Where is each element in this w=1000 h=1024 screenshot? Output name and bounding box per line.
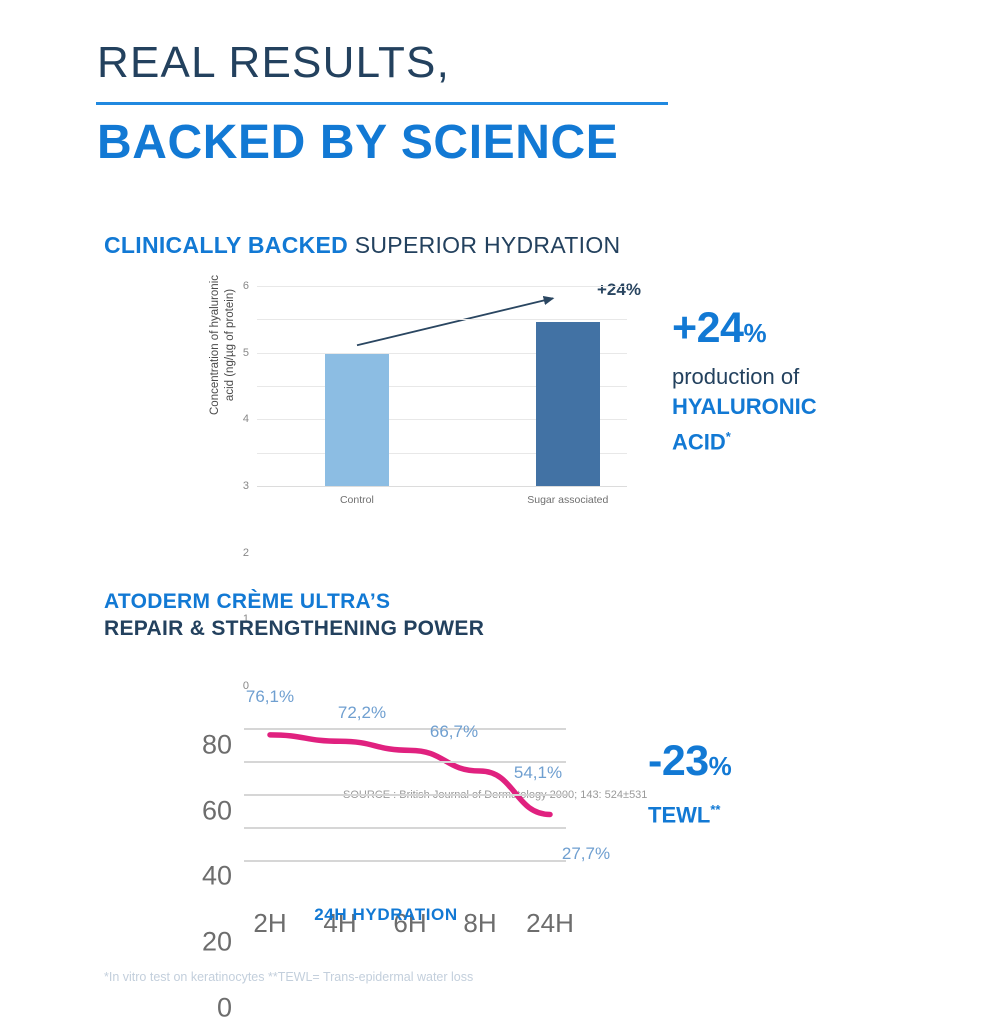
callout2-footnote-marker: ** bbox=[710, 802, 720, 817]
line-chart-plot-area: 0204060802H4H6H8H24H76,1%72,2%66,7%54,1%… bbox=[244, 712, 566, 860]
bar-chart-x-tick-label: Control bbox=[340, 494, 374, 506]
bar-chart-gridline: 6 bbox=[257, 286, 627, 287]
line-chart-series-path bbox=[244, 712, 566, 860]
bar-chart-y-tick-label: 2 bbox=[243, 547, 249, 559]
callout1-value: +24% bbox=[672, 305, 902, 356]
bar-chart-y-tick-label: 4 bbox=[243, 413, 249, 425]
bar-chart-plot-area: +24% 0123456ControlSugar associated bbox=[257, 286, 627, 486]
bar-chart-bar bbox=[325, 354, 389, 486]
callout-hyaluronic-acid: +24% production of HYALURONIC ACID* bbox=[672, 305, 902, 457]
callout1-line3: HYALURONIC bbox=[672, 392, 902, 422]
callout2-line2: TEWL** bbox=[648, 795, 878, 830]
callout2-value: -23% bbox=[648, 738, 878, 789]
line-chart-gridline: 80 bbox=[244, 728, 566, 730]
bar-chart-y-axis-label-line2: acid (ng/µg of protein) bbox=[224, 289, 236, 401]
line-chart-y-tick-label: 60 bbox=[202, 795, 232, 826]
callout2-percent: % bbox=[709, 751, 732, 781]
section1-heading: CLINICALLY BACKED SUPERIOR HYDRATION bbox=[104, 232, 620, 259]
line-chart-point-label: 66,7% bbox=[430, 722, 478, 742]
title-divider bbox=[96, 102, 668, 105]
section2-heading-line1: ATODERM CRÈME ULTRA’S bbox=[104, 588, 484, 615]
line-chart-gridline: 0 bbox=[244, 860, 566, 862]
callout2-number: -23 bbox=[648, 737, 709, 785]
callout1-line2: production of bbox=[672, 362, 902, 392]
line-chart-y-tick-label: 40 bbox=[202, 861, 232, 892]
line-chart-series-line bbox=[270, 735, 550, 815]
tewl-line-chart: 0204060802H4H6H8H24H76,1%72,2%66,7%54,1%… bbox=[186, 668, 586, 898]
bar-chart-y-axis-label-line1: Concentration of hyaluronic bbox=[209, 275, 221, 415]
line-chart-y-tick-label: 80 bbox=[202, 729, 232, 760]
line-chart-point-label: 54,1% bbox=[514, 763, 562, 783]
line-chart-point-label: 76,1% bbox=[246, 687, 294, 707]
bar-chart-y-tick-label: 5 bbox=[243, 347, 249, 359]
line-chart-point-label: 27,7% bbox=[562, 844, 610, 864]
line-chart-gridline: 40 bbox=[244, 794, 566, 796]
bar-chart-x-tick-label: Sugar associated bbox=[527, 494, 608, 506]
bar-chart-y-axis-label: Concentration of hyaluronic acid (ng/µg … bbox=[208, 250, 238, 440]
line-chart-x-axis-title: 24H HYDRATION bbox=[186, 905, 586, 925]
page-title-line1: REAL RESULTS, bbox=[97, 38, 450, 88]
line-chart-point-label: 72,2% bbox=[338, 703, 386, 723]
bar-chart-bar bbox=[536, 322, 600, 486]
bar-chart-annotation: +24% bbox=[597, 280, 641, 300]
page-footnote: *In vitro test on keratinocytes **TEWL= … bbox=[104, 970, 473, 984]
line-chart-y-tick-label: 20 bbox=[202, 927, 232, 958]
section2-heading-line2: REPAIR & STRENGTHENING POWER bbox=[104, 615, 484, 642]
section2-heading: ATODERM CRÈME ULTRA’S REPAIR & STRENGTHE… bbox=[104, 588, 484, 642]
callout-tewl: -23% TEWL** bbox=[648, 738, 878, 830]
line-chart-gridline: 20 bbox=[244, 827, 566, 829]
callout1-percent: % bbox=[743, 318, 766, 348]
bar-chart-y-tick-label: 6 bbox=[243, 280, 249, 292]
callout1-line4: ACID* bbox=[672, 422, 902, 457]
callout1-footnote-marker: * bbox=[726, 429, 731, 444]
page-title-line2: BACKED BY SCIENCE bbox=[97, 115, 618, 170]
section1-heading-rest: SUPERIOR HYDRATION bbox=[348, 232, 620, 258]
hyaluronic-acid-bar-chart: Concentration of hyaluronic acid (ng/µg … bbox=[185, 278, 635, 510]
bar-chart-gridline: 0 bbox=[257, 486, 627, 487]
line-chart-y-tick-label: 0 bbox=[217, 993, 232, 1024]
callout1-number: +24 bbox=[672, 304, 743, 352]
bar-chart-gridline: 5 bbox=[257, 319, 627, 320]
callout2-line2-text: TEWL bbox=[648, 802, 710, 827]
callout1-line4-text: ACID bbox=[672, 429, 726, 454]
bar-chart-y-tick-label: 3 bbox=[243, 480, 249, 492]
